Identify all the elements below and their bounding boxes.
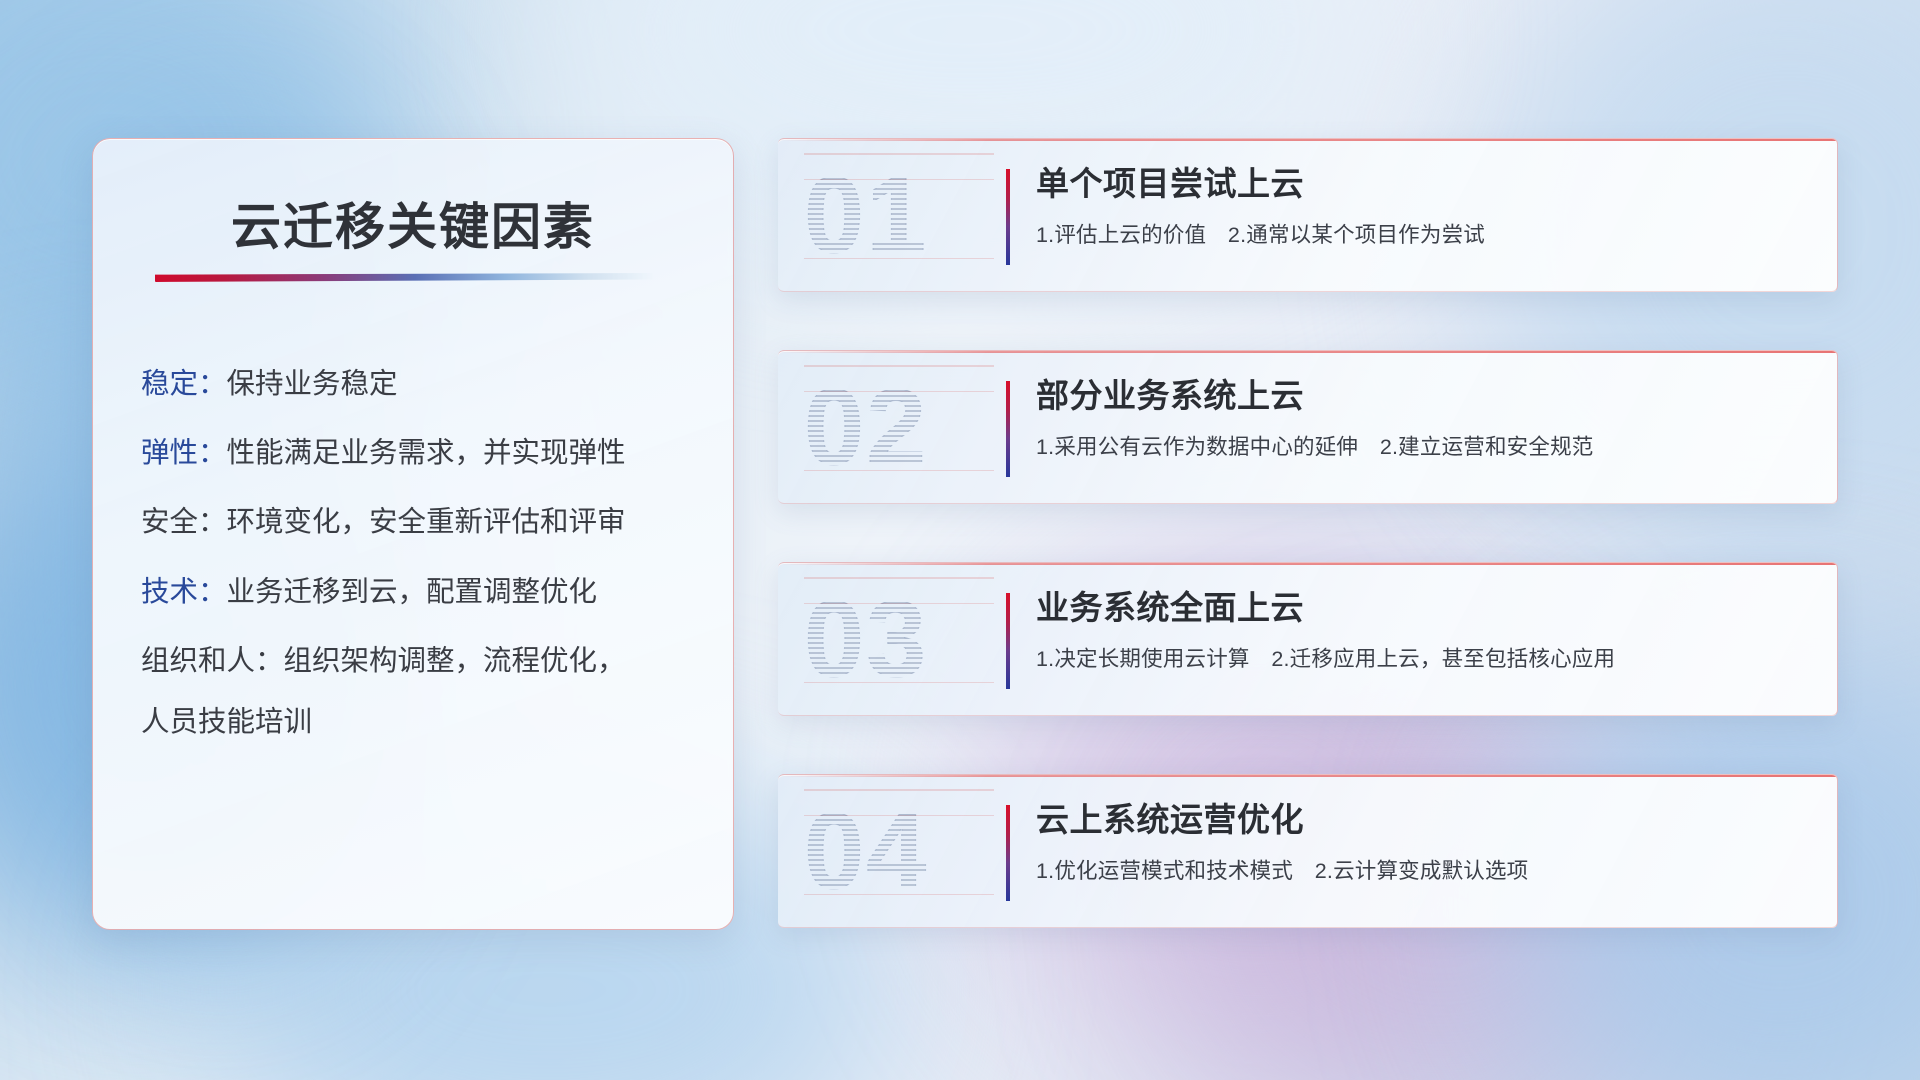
stage-number-watermark: 01 [804, 153, 994, 277]
card-title: 单个项目尝试上云 [1036, 163, 1813, 204]
card-accent-divider [1006, 593, 1010, 689]
key-factor-text: 保持业务稳定 [227, 367, 398, 401]
key-factor-text: 人员技能培训 [141, 705, 312, 739]
key-factors-list: 稳定：保持业务稳定弹性：性能满足业务需求，并实现弹性安全：环境变化，安全重新评估… [141, 367, 703, 774]
stage-card[interactable]: 04云上系统运营优化1.优化运营模式和技术模式 2.云计算变成默认选项 [778, 774, 1838, 928]
stage-card[interactable]: 01单个项目尝试上云1.评估上云的价值 2.通常以某个项目作为尝试 [778, 138, 1838, 292]
key-factor-label: 弹性： [141, 436, 227, 470]
key-factor-row: 稳定：保持业务稳定 [141, 367, 703, 401]
card-body: 部分业务系统上云1.采用公有云作为数据中心的延伸 2.建立运营和安全规范 [1036, 375, 1813, 461]
stage-number-watermark: 03 [804, 577, 994, 701]
key-factor-row: 人员技能培训 [141, 705, 703, 739]
card-body: 云上系统运营优化1.优化运营模式和技术模式 2.云计算变成默认选项 [1036, 799, 1813, 885]
stage-number-watermark: 02 [804, 365, 994, 489]
key-factor-label: 稳定： [141, 367, 227, 401]
card-description: 1.决定长期使用云计算 2.迁移应用上云，甚至包括核心应用 [1036, 642, 1813, 673]
key-factor-label: 技术： [141, 575, 227, 609]
key-factor-text: 环境变化，安全重新评估和评审 [227, 505, 626, 539]
key-factor-row: 弹性：性能满足业务需求，并实现弹性 [141, 436, 703, 470]
stage-card[interactable]: 02部分业务系统上云1.采用公有云作为数据中心的延伸 2.建立运营和安全规范 [778, 350, 1838, 504]
card-title: 部分业务系统上云 [1036, 375, 1813, 416]
stage-number-watermark: 04 [804, 789, 994, 913]
card-title: 云上系统运营优化 [1036, 799, 1813, 840]
page-title: 云迁移关键因素 [93, 187, 733, 259]
stage-number-tint-overlay [804, 789, 994, 913]
card-description: 1.采用公有云作为数据中心的延伸 2.建立运营和安全规范 [1036, 430, 1813, 461]
key-factor-text: 性能满足业务需求，并实现弹性 [227, 436, 626, 470]
key-factor-row: 技术：业务迁移到云，配置调整优化 [141, 575, 703, 609]
key-factor-row: 安全：环境变化，安全重新评估和评审 [141, 505, 703, 539]
card-description: 1.优化运营模式和技术模式 2.云计算变成默认选项 [1036, 854, 1813, 885]
stage-number-tint-overlay [804, 577, 994, 701]
slide-canvas: 云迁移关键因素 稳定：保持业务稳定弹性：性能满足业务需求，并实现弹性安全：环境变… [0, 0, 1920, 1080]
card-accent-divider [1006, 805, 1010, 901]
key-factor-label: 安全： [141, 505, 227, 539]
card-body: 单个项目尝试上云1.评估上云的价值 2.通常以某个项目作为尝试 [1036, 163, 1813, 249]
stage-number-tint-overlay [804, 153, 994, 277]
stage-card[interactable]: 03业务系统全面上云1.决定长期使用云计算 2.迁移应用上云，甚至包括核心应用 [778, 562, 1838, 716]
card-description: 1.评估上云的价值 2.通常以某个项目作为尝试 [1036, 218, 1813, 249]
card-accent-divider [1006, 381, 1010, 477]
key-factors-panel: 云迁移关键因素 稳定：保持业务稳定弹性：性能满足业务需求，并实现弹性安全：环境变… [92, 138, 734, 930]
stage-card-list: 01单个项目尝试上云1.评估上云的价值 2.通常以某个项目作为尝试02部分业务系… [778, 138, 1838, 986]
card-accent-divider [1006, 169, 1010, 265]
key-factor-text: 组织架构调整，流程优化， [284, 644, 626, 678]
card-title: 业务系统全面上云 [1036, 587, 1813, 628]
key-factor-row: 组织和人：组织架构调整，流程优化， [141, 644, 703, 678]
title-underline-accent [155, 273, 655, 282]
key-factor-text: 业务迁移到云，配置调整优化 [227, 575, 598, 609]
card-body: 业务系统全面上云1.决定长期使用云计算 2.迁移应用上云，甚至包括核心应用 [1036, 587, 1813, 673]
stage-number-tint-overlay [804, 365, 994, 489]
key-factor-label: 组织和人： [141, 644, 284, 678]
